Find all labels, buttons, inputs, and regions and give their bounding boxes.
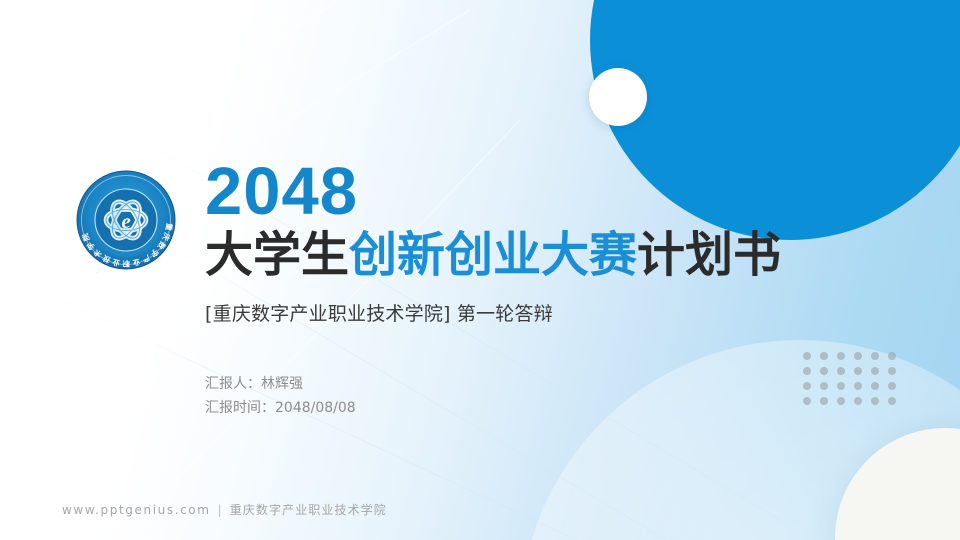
footer-separator: | <box>218 503 223 517</box>
footer-website[interactable]: www.pptgenius.com <box>62 503 211 517</box>
svg-text:e: e <box>121 209 130 233</box>
decorative-white-dot <box>589 68 647 126</box>
title-tail: 计划书 <box>637 227 781 283</box>
footer-organization: 重庆数字产业职业技术学院 <box>230 503 387 517</box>
presentation-date: 汇报时间：2048/08/08 <box>205 396 845 420</box>
page-title: 大学生创新创业大赛计划书 <box>205 230 845 281</box>
decorative-white-circle-bottom-right <box>835 428 960 540</box>
subtitle: [重庆数字产业职业技术学院] 第一轮答辩 <box>205 299 845 326</box>
presenter-name: 汇报人：林辉强 <box>205 372 845 396</box>
university-logo-icon: 重庆数字产业职业技术学院 CHONGQING DIGITAL INDUSTRY … <box>72 166 180 274</box>
title-lead: 大学生 <box>205 227 349 283</box>
title-accent: 创新创业大赛 <box>349 227 637 283</box>
slide-canvas: 重庆数字产业职业技术学院 CHONGQING DIGITAL INDUSTRY … <box>0 0 960 540</box>
title-block: 2048 大学生创新创业大赛计划书 [重庆数字产业职业技术学院] 第一轮答辩 汇… <box>205 160 845 420</box>
footer: www.pptgenius.com|重庆数字产业职业技术学院 <box>62 501 387 518</box>
presenter-meta: 汇报人：林辉强 汇报时间：2048/08/08 <box>205 372 845 420</box>
year-heading: 2048 <box>205 160 845 224</box>
